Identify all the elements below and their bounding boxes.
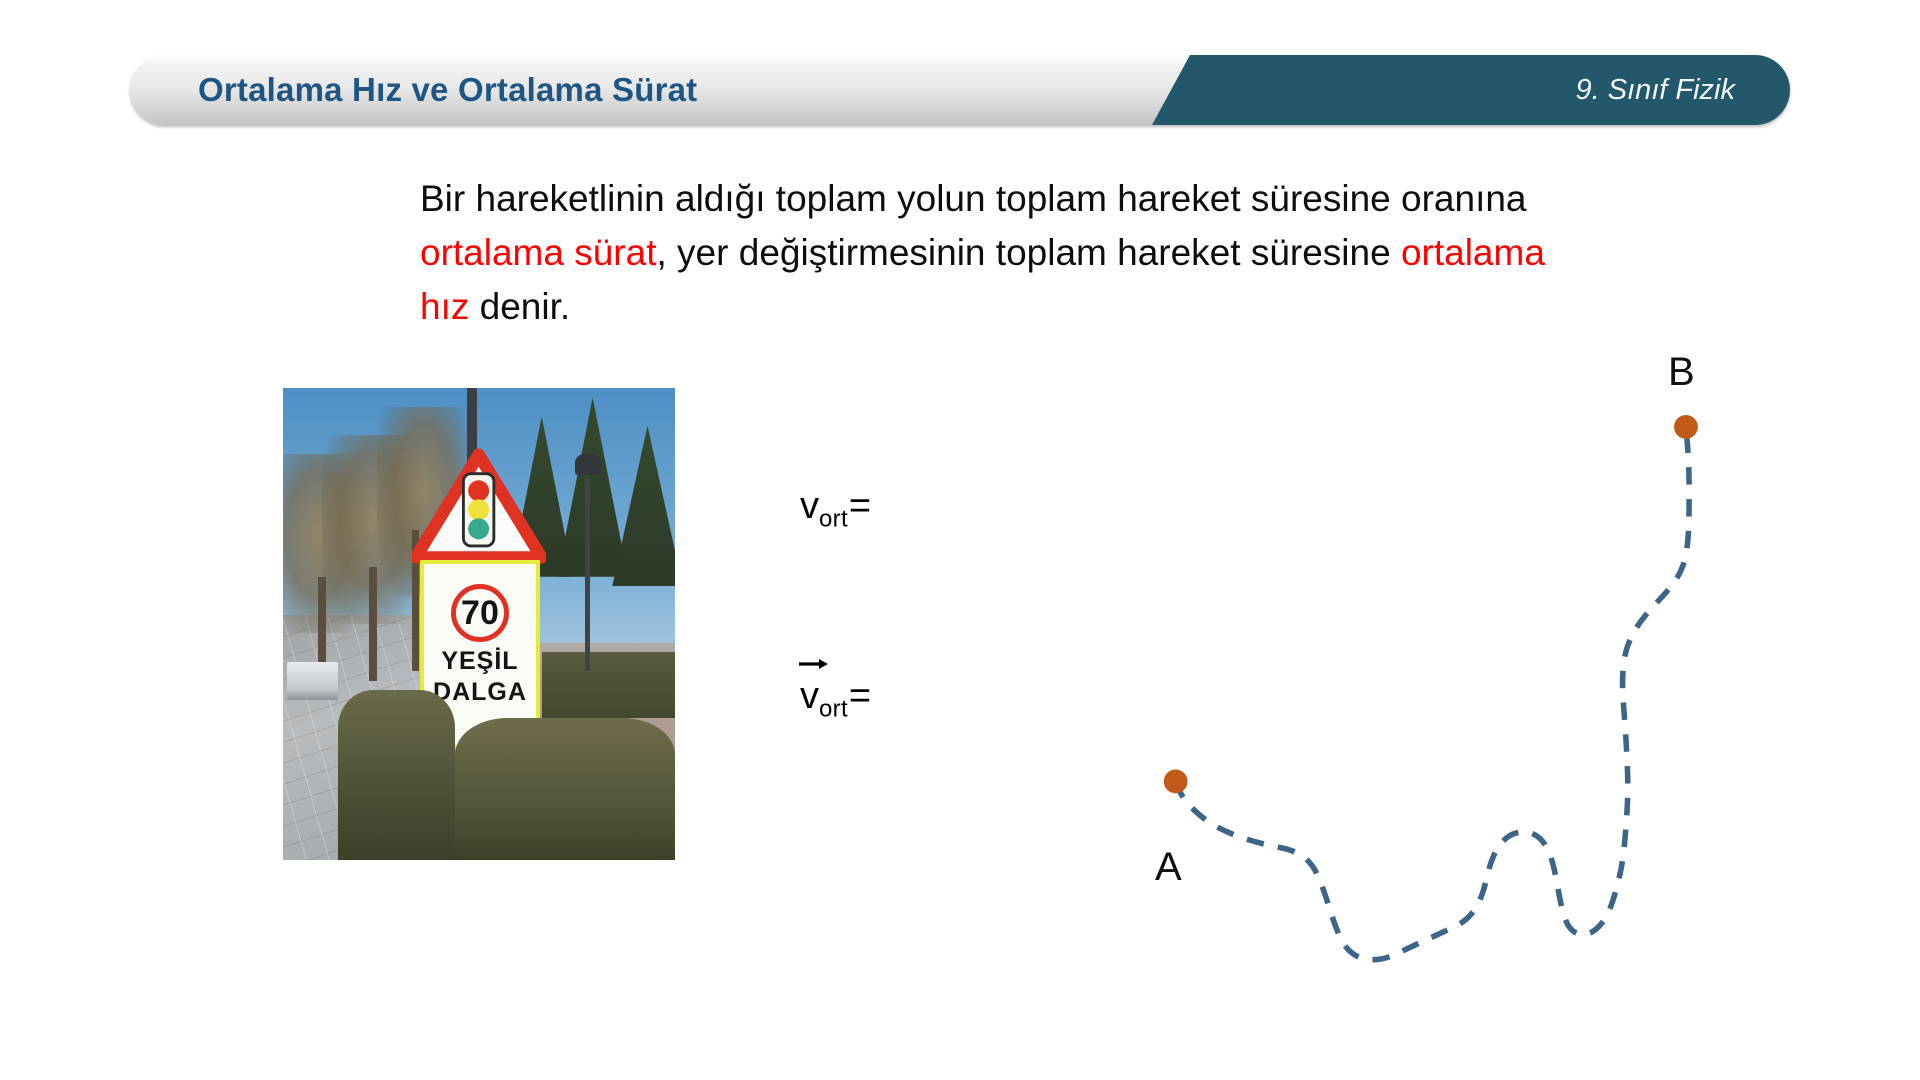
sign-text-line-2: DALGA [433,680,527,705]
photo-distant-vehicle [287,662,338,700]
speed-limit-circle-icon: 70 [451,584,509,642]
traffic-light-warning-sign-icon [412,447,545,565]
point-b-label: B [1668,350,1695,395]
speed-limit-value: 70 [461,596,499,630]
photo-tree-trunk [369,567,377,680]
average-velocity-subscript: ort [819,696,848,723]
average-speed-subscript: ort [819,506,848,533]
average-speed-symbol-letter: v [800,485,819,527]
header-subject-label: 9. Sınıf Fizik [1575,55,1735,125]
photo-far-hedge [542,652,675,718]
point-a-label: A [1155,845,1182,890]
photo-street-lamp-pole [585,464,590,672]
traffic-sign-photo: 70 YEŞİL DALGA [283,388,675,860]
motion-path-diagram [1120,330,1740,1050]
average-velocity-formula: vort= [800,675,871,724]
point-a-marker [1164,769,1188,793]
vector-arrow-icon [798,656,828,670]
average-velocity-equals-sign: = [849,675,871,717]
photo-right-hedge [455,718,675,860]
definition-text-part-1: Bir hareketlinin aldığı toplam yolun top… [420,178,1527,219]
definition-text-part-3: denir. [469,286,570,327]
photo-street-lamp-head [575,454,600,475]
term-ortalama-surat: ortalama sürat [420,232,657,273]
sign-text-line-1: YEŞİL [441,649,518,674]
definition-text-part-2: , yer değiştirmesinin toplam hareket sür… [657,232,1401,273]
average-velocity-symbol-letter: v [800,675,819,717]
point-b-marker [1674,415,1698,439]
photo-left-hedge [338,690,456,860]
definition-paragraph: Bir hareketlinin aldığı toplam yolun top… [420,172,1600,334]
average-speed-equals-sign: = [849,485,871,527]
average-speed-formula: vort= [800,485,871,534]
average-velocity-symbol: vort [800,675,848,724]
average-speed-symbol: vort [800,485,848,534]
slide-header-banner: Ortalama Hız ve Ortalama Sürat 9. Sınıf … [130,55,1790,125]
motion-path-line [1176,429,1689,959]
page-title: Ortalama Hız ve Ortalama Sürat [198,55,697,125]
